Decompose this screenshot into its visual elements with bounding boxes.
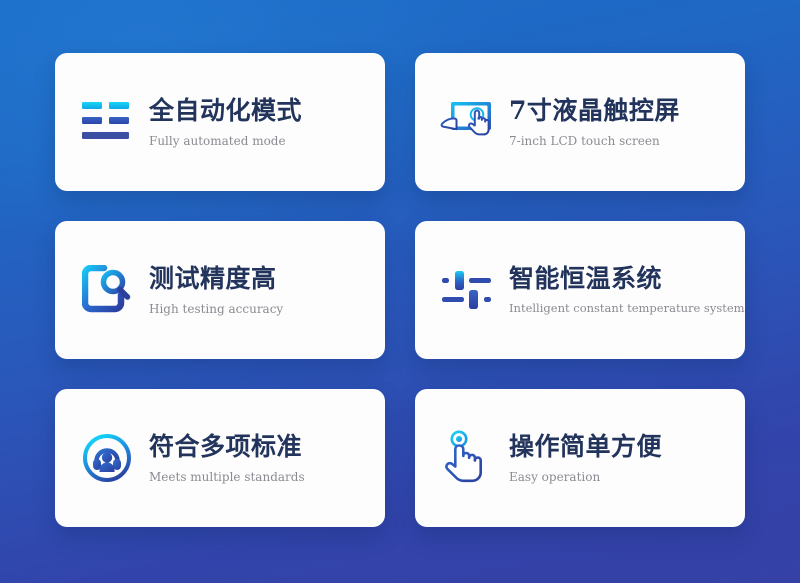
- feature-subtitle: 7-inch LCD touch screen: [509, 134, 680, 148]
- sliders-settings-icon: [439, 262, 495, 318]
- feature-subtitle: Intelligent constant temperature system: [509, 302, 727, 316]
- feature-title: 操作简单方便: [509, 432, 662, 462]
- feature-grid: 全自动化模式 Fully automated mode: [55, 53, 745, 527]
- feature-card-lcd-touch-screen[interactable]: 7寸液晶触控屏 7-inch LCD touch screen: [415, 53, 745, 191]
- feature-title: 全自动化模式: [149, 96, 302, 126]
- feature-subtitle: Meets multiple standards: [149, 470, 305, 484]
- feature-subtitle: Easy operation: [509, 470, 662, 484]
- feature-title: 符合多项标准: [149, 432, 305, 462]
- feature-title: 7寸液晶触控屏: [509, 96, 680, 126]
- feature-card-text: 操作简单方便 Easy operation: [509, 432, 662, 485]
- headset-circle-icon: [79, 430, 135, 486]
- feature-card-text: 全自动化模式 Fully automated mode: [149, 96, 302, 149]
- document-magnifier-icon: [79, 262, 135, 318]
- feature-title: 智能恒温系统: [509, 264, 727, 294]
- feature-subtitle: Fully automated mode: [149, 134, 302, 148]
- touchscreen-hand-icon: [439, 94, 495, 150]
- tap-hand-icon: [439, 430, 495, 486]
- bars-menu-icon: [79, 94, 135, 150]
- feature-subtitle: High testing accuracy: [149, 302, 283, 316]
- feature-card-constant-temperature[interactable]: 智能恒温系统 Intelligent constant temperature …: [415, 221, 745, 359]
- feature-card-fully-automated-mode[interactable]: 全自动化模式 Fully automated mode: [55, 53, 385, 191]
- feature-card-text: 7寸液晶触控屏 7-inch LCD touch screen: [509, 96, 680, 149]
- feature-card-text: 智能恒温系统 Intelligent constant temperature …: [509, 264, 727, 316]
- feature-card-text: 符合多项标准 Meets multiple standards: [149, 432, 305, 485]
- feature-card-text: 测试精度高 High testing accuracy: [149, 264, 283, 317]
- feature-title: 测试精度高: [149, 264, 283, 294]
- feature-card-high-testing-accuracy[interactable]: 测试精度高 High testing accuracy: [55, 221, 385, 359]
- feature-card-meets-standards[interactable]: 符合多项标准 Meets multiple standards: [55, 389, 385, 527]
- feature-card-easy-operation[interactable]: 操作简单方便 Easy operation: [415, 389, 745, 527]
